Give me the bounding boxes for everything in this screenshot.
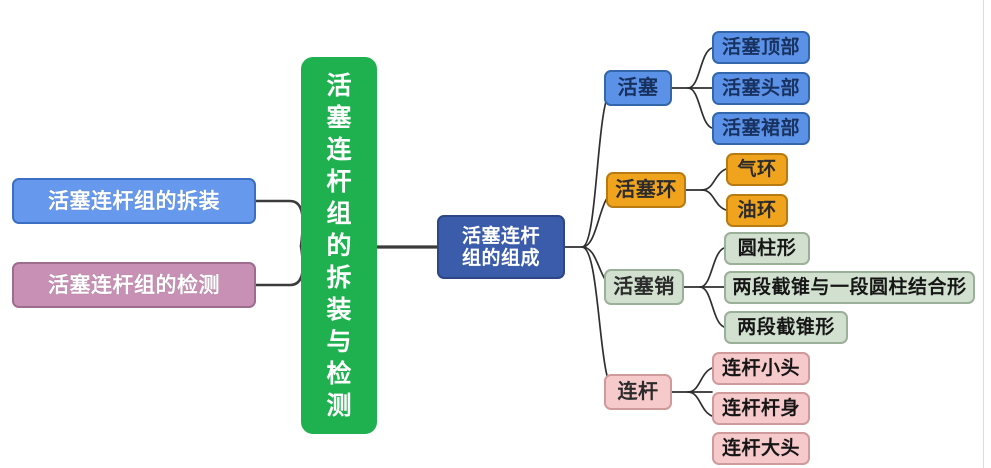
node-leaf-rod-small-end[interactable]: 连杆小头: [712, 352, 810, 385]
edge-left-assembly: [256, 201, 303, 246]
node-leaf-piston-head[interactable]: 活塞头部: [712, 72, 810, 105]
center-char-4: 杆: [326, 166, 351, 198]
node-assembly-composition[interactable]: 活塞连杆 组的组成: [437, 215, 565, 279]
node-label: 活塞连杆组的拆装: [48, 189, 220, 214]
node-label: 圆柱形: [738, 237, 797, 259]
node-label: 活塞销: [613, 275, 675, 299]
node-leaf-piston-skirt[interactable]: 活塞裙部: [712, 112, 810, 145]
node-branch-connecting-rod[interactable]: 连杆: [604, 374, 672, 410]
node-piston-rod-assembly-disassembly[interactable]: 活塞连杆组的拆装: [12, 178, 256, 224]
node-label: 活塞顶部: [722, 36, 800, 58]
edge-rod-small: [688, 368, 712, 392]
node-branch-piston-ring[interactable]: 活塞环: [606, 172, 686, 208]
node-branch-piston[interactable]: 活塞: [604, 70, 672, 106]
mindmap-canvas: 活塞连杆组的拆装 活塞连杆组的检测 活 塞 连 杆 组 的 拆 装 与 检 测 …: [0, 0, 991, 468]
node-label: 活塞: [618, 76, 659, 100]
center-char-3: 连: [326, 134, 351, 166]
center-char-6: 的: [326, 230, 351, 262]
edge-to-piston: [582, 88, 612, 247]
page-right-border: [983, 0, 984, 468]
edge-piston-skirt: [688, 88, 712, 128]
center-char-7: 拆: [326, 262, 351, 294]
node-label: 连杆杆身: [722, 397, 800, 419]
node-label: 活塞裙部: [722, 117, 800, 139]
center-char-11: 测: [326, 390, 351, 422]
node-leaf-two-cone-one-cylinder[interactable]: 两段截锥与一段圆柱结合形: [724, 271, 975, 304]
center-char-2: 塞: [326, 102, 351, 134]
center-char-9: 与: [326, 326, 351, 358]
node-label: 活塞环: [615, 178, 677, 202]
edge-piston-top: [688, 48, 712, 88]
node-label: 连杆小头: [722, 357, 800, 379]
node-branch-piston-pin[interactable]: 活塞销: [604, 269, 684, 305]
node-label: 活塞头部: [722, 77, 800, 99]
node-label: 油环: [737, 199, 776, 221]
node-leaf-two-cone[interactable]: 两段截锥形: [724, 311, 848, 344]
edge-pin-cyl: [700, 248, 724, 287]
node-label: 活塞连杆 组的组成: [462, 225, 540, 270]
edge-rod-big: [688, 392, 712, 416]
node-label: 气环: [737, 158, 776, 180]
node-leaf-oil-ring[interactable]: 油环: [726, 194, 788, 227]
edge-ring-gas: [702, 169, 726, 190]
node-label: 连杆大头: [722, 437, 800, 459]
node-central-topic[interactable]: 活 塞 连 杆 组 的 拆 装 与 检 测: [301, 57, 377, 434]
node-leaf-piston-crown[interactable]: 活塞顶部: [712, 31, 810, 64]
center-char-10: 检: [326, 358, 351, 390]
node-leaf-rod-shank[interactable]: 连杆杆身: [712, 392, 810, 425]
edge-ring-oil: [702, 190, 726, 210]
node-label: 两段截锥与一段圆柱结合形: [732, 276, 966, 298]
node-leaf-gas-ring[interactable]: 气环: [726, 153, 788, 186]
edge-left-inspection: [256, 246, 303, 285]
node-label: 活塞连杆组的检测: [48, 273, 220, 298]
node-label: 连杆: [618, 380, 659, 404]
edge-pin-cone: [700, 287, 724, 327]
center-char-8: 装: [326, 294, 351, 326]
center-char-1: 活: [326, 70, 351, 102]
center-char-5: 组: [326, 198, 351, 230]
node-label: 两段截锥形: [737, 316, 835, 338]
node-piston-rod-assembly-inspection[interactable]: 活塞连杆组的检测: [12, 262, 256, 308]
node-leaf-cylindrical[interactable]: 圆柱形: [724, 232, 810, 265]
node-leaf-rod-big-end[interactable]: 连杆大头: [712, 432, 810, 465]
